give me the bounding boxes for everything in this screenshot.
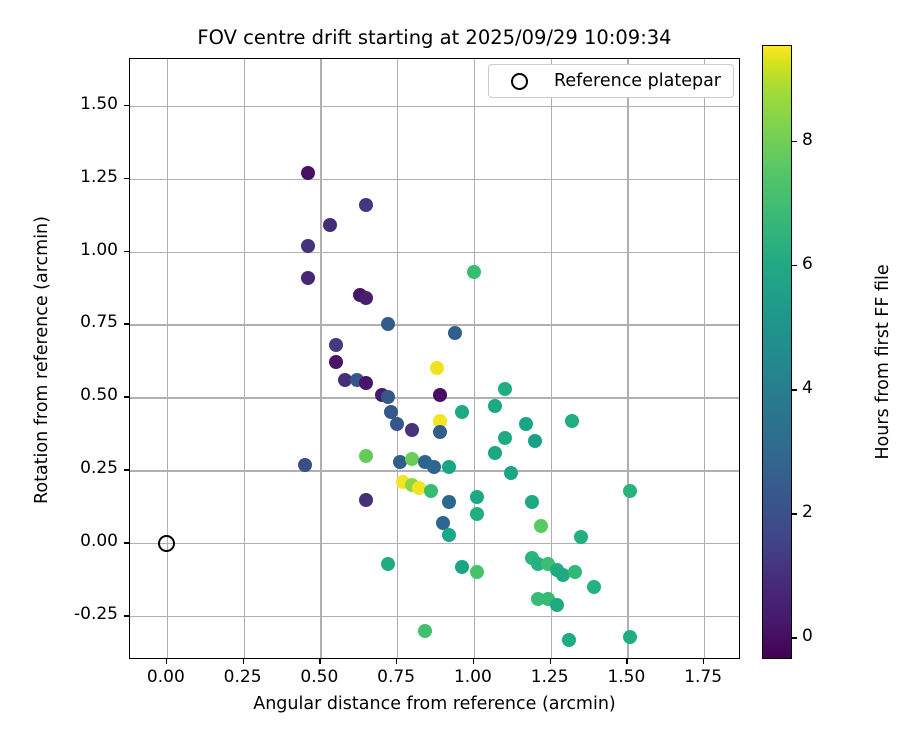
x-tick-label: 1.75 — [668, 667, 738, 687]
scatter-point — [323, 218, 337, 232]
colorbar-tick-label: 4 — [802, 378, 813, 398]
scatter-point — [623, 630, 637, 644]
x-tick-label: 0.75 — [361, 667, 431, 687]
gridline-horizontal — [130, 179, 739, 180]
page-title: FOV centre drift starting at 2025/09/29 … — [129, 26, 740, 49]
scatter-point — [488, 399, 502, 413]
scatter-point — [550, 598, 564, 612]
x-tick-mark — [319, 659, 320, 664]
gridline-horizontal — [130, 324, 739, 325]
scatter-point — [329, 355, 343, 369]
y-tick-label: -0.25 — [34, 604, 118, 624]
scatter-point — [534, 519, 548, 533]
scatter-point — [442, 495, 456, 509]
y-tick-mark — [124, 178, 129, 179]
y-tick-mark — [124, 251, 129, 252]
x-tick-label: 0.25 — [208, 667, 278, 687]
scatter-point — [455, 405, 469, 419]
colorbar-tick-mark — [792, 513, 797, 514]
y-axis-label: Rotation from reference (arcmin) — [32, 200, 52, 520]
scatter-point — [418, 624, 432, 638]
scatter-point — [298, 458, 312, 472]
y-tick-label: 1.25 — [34, 167, 118, 187]
x-tick-mark — [166, 659, 167, 664]
x-tick-label: 0.00 — [131, 667, 201, 687]
scatter-point — [519, 417, 533, 431]
scatter-point — [587, 580, 601, 594]
reference-platepar-marker — [158, 535, 175, 552]
scatter-point — [390, 417, 404, 431]
scatter-point — [623, 484, 637, 498]
gridline-vertical — [244, 59, 245, 658]
y-tick-label: 1.50 — [34, 94, 118, 114]
colorbar-tick-mark — [792, 141, 797, 142]
scatter-point — [498, 382, 512, 396]
colorbar-tick-label: 2 — [802, 502, 813, 522]
colorbar-tick-mark — [792, 389, 797, 390]
scatter-point — [359, 291, 373, 305]
x-tick-label: 0.50 — [284, 667, 354, 687]
scatter-point — [433, 425, 447, 439]
scatter-point — [301, 271, 315, 285]
scatter-point — [329, 338, 343, 352]
scatter-point — [301, 239, 315, 253]
scatter-point — [455, 560, 469, 574]
x-tick-label: 1.25 — [515, 667, 585, 687]
colorbar — [762, 45, 792, 659]
scatter-point — [433, 388, 447, 402]
gridline-vertical — [627, 59, 628, 658]
scatter-point — [301, 166, 315, 180]
legend-open-circle-icon — [511, 73, 528, 90]
legend-entry-label: Reference platepar — [554, 71, 721, 91]
scatter-point — [528, 434, 542, 448]
colorbar-label: Hours from first FF file — [873, 207, 893, 517]
scatter-point — [427, 460, 441, 474]
scatter-point — [562, 633, 576, 647]
x-tick-label: 1.50 — [591, 667, 661, 687]
matplotlib-figure: FOV centre drift starting at 2025/09/29 … — [0, 0, 900, 750]
gridline-horizontal — [130, 106, 739, 107]
scatter-point — [381, 557, 395, 571]
colorbar-tick-label: 0 — [802, 626, 813, 646]
scatter-plot-axes: Reference platepar — [129, 58, 740, 659]
scatter-point — [470, 565, 484, 579]
gridline-vertical — [704, 59, 705, 658]
scatter-point — [381, 317, 395, 331]
y-tick-mark — [124, 105, 129, 106]
scatter-point — [359, 198, 373, 212]
x-tick-mark — [473, 659, 474, 664]
x-tick-mark — [550, 659, 551, 664]
y-tick-mark — [124, 615, 129, 616]
scatter-point — [470, 490, 484, 504]
y-tick-label: 0.00 — [34, 531, 118, 551]
gridline-horizontal — [130, 616, 739, 617]
scatter-point — [424, 484, 438, 498]
x-tick-mark — [626, 659, 627, 664]
scatter-point — [381, 390, 395, 404]
scatter-point — [498, 431, 512, 445]
legend: Reference platepar — [488, 64, 734, 98]
scatter-point — [359, 449, 373, 463]
gridline-horizontal — [130, 252, 739, 253]
colorbar-tick-label: 8 — [802, 130, 813, 150]
scatter-point — [488, 446, 502, 460]
y-tick-mark — [124, 396, 129, 397]
scatter-point — [430, 361, 444, 375]
scatter-point — [448, 326, 462, 340]
scatter-point — [467, 265, 481, 279]
scatter-point — [568, 565, 582, 579]
x-tick-label: 1.00 — [438, 667, 508, 687]
gridline-vertical — [167, 59, 168, 658]
scatter-point — [470, 507, 484, 521]
y-tick-mark — [124, 323, 129, 324]
scatter-point — [405, 423, 419, 437]
scatter-point — [442, 460, 456, 474]
x-tick-mark — [243, 659, 244, 664]
colorbar-tick-label: 6 — [802, 254, 813, 274]
y-tick-mark — [124, 469, 129, 470]
x-tick-mark — [396, 659, 397, 664]
gridline-horizontal — [130, 543, 739, 544]
colorbar-tick-mark — [792, 637, 797, 638]
scatter-point — [565, 414, 579, 428]
x-axis-label: Angular distance from reference (arcmin) — [129, 694, 740, 714]
scatter-point — [525, 495, 539, 509]
scatter-point — [442, 528, 456, 542]
x-tick-mark — [703, 659, 704, 664]
scatter-point — [359, 376, 373, 390]
scatter-point — [359, 493, 373, 507]
y-tick-mark — [124, 542, 129, 543]
colorbar-tick-mark — [792, 265, 797, 266]
scatter-point — [504, 466, 518, 480]
gridline-vertical — [397, 59, 398, 658]
gridline-vertical — [320, 59, 321, 658]
